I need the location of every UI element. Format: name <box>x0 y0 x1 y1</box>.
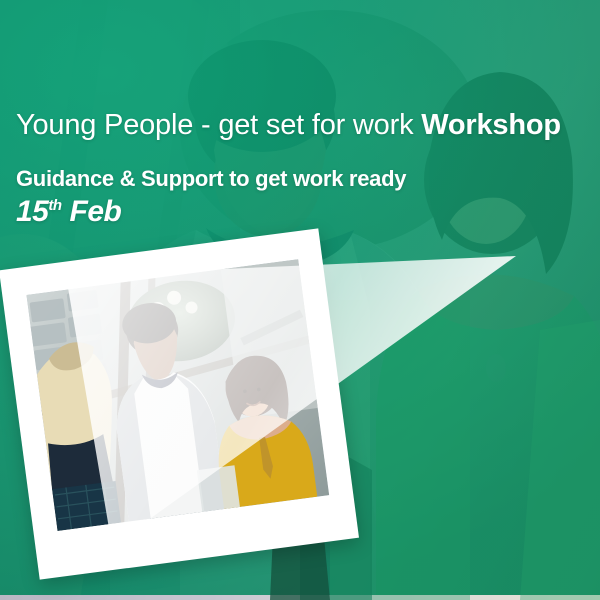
headline-line-1-regular: Young People - get set for work <box>16 109 421 141</box>
event-date-month: Feb <box>70 195 122 228</box>
headline-line-1-bold: Workshop <box>421 109 561 141</box>
event-date-ordinal: th <box>48 197 61 214</box>
headline-line-1: Young People - get set for work Workshop <box>16 108 586 142</box>
event-date: 15thFeb <box>16 194 586 230</box>
photo-frame <box>0 228 359 579</box>
headline-line-2: Guidance & Support to get work ready <box>16 166 586 192</box>
bottom-edge-strip <box>0 595 600 600</box>
photo-frame-wrapper <box>0 228 359 579</box>
headline-block: Young People - get set for work Workshop… <box>16 108 586 230</box>
poster-root: Young People - get set for work Workshop… <box>0 0 600 600</box>
framed-photo <box>26 259 329 531</box>
event-date-day: 15 <box>16 195 48 228</box>
